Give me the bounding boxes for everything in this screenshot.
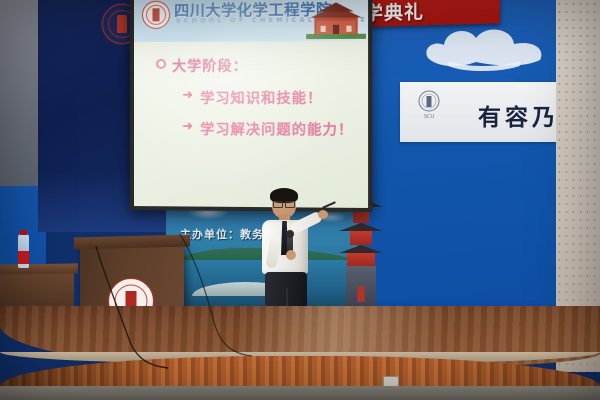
auditorium-floor [0,386,600,400]
cloud-motif-icon [420,18,550,74]
scu-wall-seal-icon: SCU [414,88,444,122]
podium-top-surface [74,234,190,249]
arrow-bullet-icon: ➜ [182,120,193,133]
ring-bullet-icon [156,59,166,69]
projected-slide: 四川大学化学工程学院 SCHOOL OF CHEMICAL ENGINEERIN… [134,0,368,208]
scu-logo-icon [142,1,170,29]
slide-bullet-2: ➜ 学习知识和技能！ [182,88,368,108]
speaker-mic-hand [286,250,296,260]
microphone-head [286,230,294,238]
slide-bullet-3: ➜ 学习解决问题的能力！ [182,119,368,140]
slide-bullet-2-text: 学习知识和技能！ [200,88,322,108]
campus-building-image [306,0,366,39]
arrow-bullet-icon: ➜ [182,89,193,102]
pagoda-door [358,286,365,302]
svg-text:SCU: SCU [424,114,435,120]
bottle-label [18,251,29,264]
slide-bullet-1: 大学阶段： [156,55,368,76]
slide-bullet-3-text: 学习解决问题的能力！ [200,119,353,140]
wall-motto-band: SCU 有容乃大 [400,82,556,142]
speaker-raised-hand [318,210,328,219]
glasses-icon [273,201,295,206]
slide-content: 大学阶段： ➜ 学习知识和技能！ ➜ 学习解决问题的能力！ [134,41,368,140]
water-bottle [18,234,29,268]
auditorium-photo: 四 名 SCU 有容乃大 新生开学典礼 主办单位：教务 [0,0,600,400]
projection-screen: 四川大学化学工程学院 SCHOOL OF CHEMICAL ENGINEERIN… [130,0,372,212]
bottle-cap [20,230,27,235]
pagoda-tower-mural [338,198,384,306]
slide-bullet-1-text: 大学阶段： [172,56,248,76]
slide-header-band: 四川大学化学工程学院 SCHOOL OF CHEMICAL ENGINEERIN… [134,0,368,42]
side-table-top [0,263,78,274]
